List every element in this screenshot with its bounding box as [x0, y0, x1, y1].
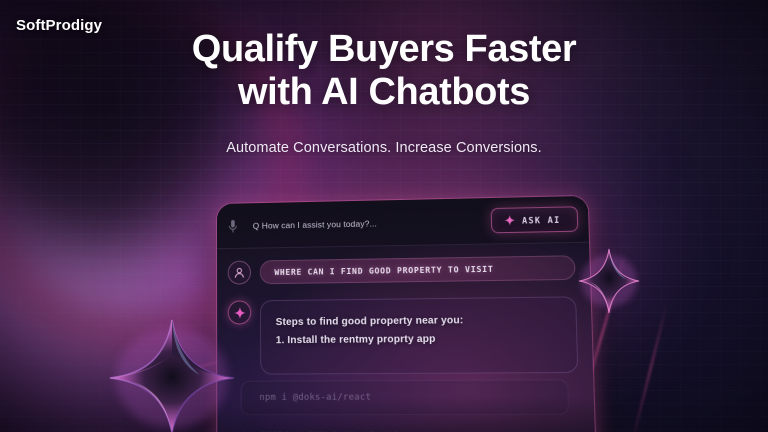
user-message-bubble: WHERE CAN I FIND GOOD PROPERTY TO VISIT: [260, 255, 576, 284]
code-snippet-row[interactable]: npm i @doks-ai/react: [241, 379, 570, 415]
search-input-value[interactable]: Q How can I assist you today?...: [253, 216, 491, 231]
footer-hint-row: 2. INSTALL THE DOKS AI APP: [243, 425, 570, 432]
sparkle-3d-object-left: [108, 318, 236, 432]
ask-ai-button[interactable]: ASK AI: [490, 206, 578, 233]
ask-ai-label: ASK AI: [522, 214, 561, 225]
headline-line-1: Qualify Buyers Faster: [192, 28, 576, 70]
assistant-line-2: 1. Install the rentmy proprty app: [276, 329, 562, 350]
hero-banner: SoftProdigy Qualify Buyers Faster with A…: [0, 0, 768, 432]
hero-subheadline: Automate Conversations. Increase Convers…: [0, 140, 768, 156]
user-avatar: [228, 261, 251, 285]
user-message-text: WHERE CAN I FIND GOOD PROPERTY TO VISIT: [274, 264, 493, 277]
chat-search-bar[interactable]: Q How can I assist you today?... ASK AI: [217, 196, 589, 249]
hero-headline: Qualify Buyers Faster with AI Chatbots: [0, 28, 768, 115]
microphone-icon: [229, 219, 238, 233]
sparkle-icon: [504, 215, 515, 226]
code-snippet-text: npm i @doks-ai/react: [259, 392, 371, 403]
chat-panel-surface: Q How can I assist you today?... ASK AI: [217, 196, 596, 432]
chat-message-user: WHERE CAN I FIND GOOD PROPERTY TO VISIT: [217, 255, 590, 285]
user-avatar-icon: [233, 267, 245, 279]
assistant-message-bubble: Steps to find good property near you: 1.…: [260, 296, 578, 374]
chat-message-assistant: Steps to find good property near you: 1.…: [217, 296, 593, 375]
headline-line-2: with AI Chatbots: [0, 71, 768, 114]
sparkle-3d-object-right: [578, 248, 640, 314]
ai-chat-panel: Q How can I assist you today?... ASK AI: [217, 196, 596, 432]
